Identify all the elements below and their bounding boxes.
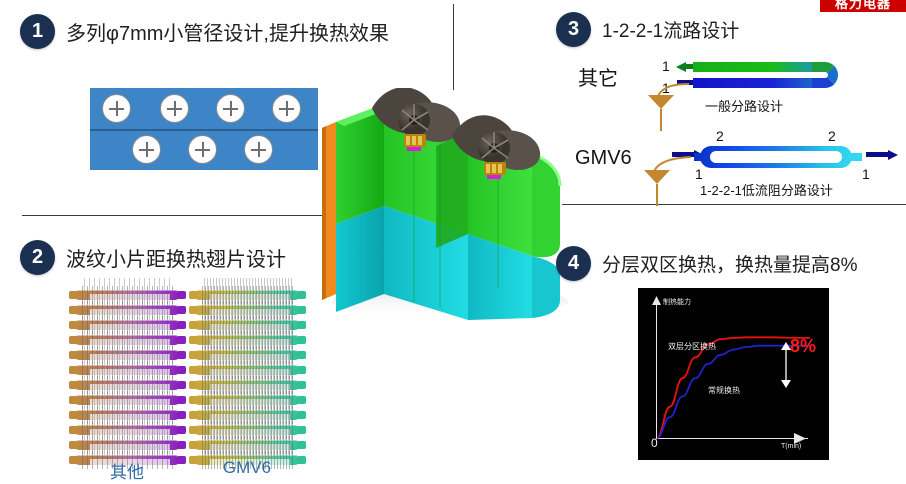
fin-end-cap-right <box>297 291 306 299</box>
section-header-4: 4 分层双区换热，换热量提高8% <box>556 246 857 281</box>
fin-end-cap-right <box>297 321 306 329</box>
tube-hole <box>188 135 217 164</box>
fin-end-cap-left <box>189 411 198 419</box>
plate-divider-line <box>90 129 318 131</box>
heating-capacity-chart: 制热能力 T(min) 0 双层分区换热 常规换热 8% <box>638 288 829 460</box>
fin-label-other: 其他 <box>72 458 182 483</box>
fin-end-cap-right <box>297 396 306 404</box>
flow-out-number-gmv6: 1 <box>862 166 870 182</box>
divider-horizontal-right <box>562 204 906 205</box>
fin-end-cap-left <box>69 426 78 434</box>
fin-end-cap-left <box>189 366 198 374</box>
chart-plot-area <box>638 288 829 460</box>
fin-end-cap-right <box>297 306 306 314</box>
section-title-3: 1-2-2-1流路设计 <box>602 16 739 43</box>
flow-tube-bend-other <box>812 62 838 88</box>
flow-loop-inner-gmv6 <box>710 151 842 163</box>
flow-tube-green-other <box>693 62 826 72</box>
fin-end-cap-left <box>69 441 78 449</box>
section-number-1: 1 <box>20 14 55 49</box>
chart-series-label-1: 常规换热 <box>708 385 740 396</box>
fin-end-cap-right <box>297 351 306 359</box>
fin-end-cap-left <box>189 306 198 314</box>
flow-caption-gmv6: 1-2-2-1低流阻分路设计 <box>700 180 833 199</box>
fin-end-cap-right <box>177 426 186 434</box>
flow-mid-right-number-gmv6: 2 <box>828 128 836 144</box>
flow-arrow-out-line-gmv6 <box>866 152 890 157</box>
fin-end-cap-right <box>297 411 306 419</box>
render-left-cyan-face <box>336 206 384 312</box>
tube-hole <box>102 94 131 123</box>
fin-end-cap-left <box>189 441 198 449</box>
tube-hole <box>216 94 245 123</box>
fin-end-cap-right <box>297 366 306 374</box>
chart-series-label-0: 双层分区换热 <box>668 341 716 352</box>
divider-horizontal-left <box>22 215 348 216</box>
section-title-2: 波纹小片距换热翅片设计 <box>66 243 286 272</box>
funnel-curve-gmv6 <box>651 155 695 177</box>
fin-end-cap-left <box>189 381 198 389</box>
fin-end-cap-right <box>177 321 186 329</box>
fin-end-cap-right <box>177 381 186 389</box>
fin-end-cap-right <box>297 441 306 449</box>
chart-delta-arrow <box>780 342 792 388</box>
section-header-3: 3 1-2-2-1流路设计 <box>556 12 739 47</box>
fin-end-cap-left <box>189 336 198 344</box>
fin-end-cap-left <box>69 411 78 419</box>
fin-end-cap-left <box>189 426 198 434</box>
flow-arrow-out-head-gmv6 <box>888 150 898 160</box>
tube-hole <box>132 135 161 164</box>
fin-label-gmv6: GMV6 <box>192 458 302 478</box>
section-header-2: 2 波纹小片距换热翅片设计 <box>20 240 286 275</box>
fin-end-cap-left <box>69 351 78 359</box>
fin-end-cap-right <box>177 351 186 359</box>
fin-end-cap-left <box>189 321 198 329</box>
fin-end-cap-left <box>189 396 198 404</box>
section-number-4: 4 <box>556 246 591 281</box>
fin-end-cap-left <box>69 291 78 299</box>
fin-end-cap-right <box>177 411 186 419</box>
flow-outlet-stub-gmv6 <box>848 153 862 161</box>
fin-end-cap-right <box>177 336 186 344</box>
flow-in-number-other: 1 <box>662 58 670 74</box>
fin-end-cap-left <box>189 351 198 359</box>
slide-root: 格力电器 1 多列φ7mm小管径设计,提升换热效果 2 波纹小片距换热翅片设计 … <box>0 0 906 484</box>
flow-arrow-out-head-other <box>676 62 686 72</box>
render-end-plate-edge <box>322 126 326 300</box>
tube-plate-diagram <box>90 88 318 170</box>
section-number-3: 3 <box>556 12 591 47</box>
tube-hole <box>272 94 301 123</box>
tube-hole <box>160 94 189 123</box>
heat-exchanger-3d-render <box>318 88 586 320</box>
fin-end-cap-left <box>69 321 78 329</box>
fin-end-cap-right <box>177 396 186 404</box>
flow-caption-other: 一般分路设计 <box>705 96 783 115</box>
fin-end-cap-right <box>297 336 306 344</box>
fin-end-cap-left <box>69 366 78 374</box>
section-title-4: 分层双区换热，换热量提高8% <box>602 250 857 277</box>
fin-stack-gmv6 <box>192 288 302 468</box>
fin-end-cap-right <box>177 306 186 314</box>
fin-end-cap-left <box>69 381 78 389</box>
fin-end-cap-right <box>177 366 186 374</box>
section-number-2: 2 <box>20 240 55 275</box>
tube-hole <box>244 135 273 164</box>
flow-mid-left-number-gmv6: 2 <box>716 128 724 144</box>
section-header-1: 1 多列φ7mm小管径设计,提升换热效果 <box>20 14 389 49</box>
section-title-1: 多列φ7mm小管径设计,提升换热效果 <box>66 17 389 46</box>
fin-end-cap-right <box>177 441 186 449</box>
flow-tube-blue-other <box>693 78 826 88</box>
brand-badge: 格力电器 <box>820 0 906 12</box>
funnel-curve-other <box>655 82 695 102</box>
chart-improvement-annotation: 8% <box>790 336 816 357</box>
fin-end-cap-right <box>177 291 186 299</box>
fin-end-cap-left <box>69 336 78 344</box>
funnel-stem-other <box>660 109 662 131</box>
fin-end-cap-left <box>69 306 78 314</box>
fin-end-cap-left <box>69 396 78 404</box>
divider-vertical <box>453 4 454 90</box>
fin-end-cap-right <box>297 381 306 389</box>
fin-stack-other <box>72 288 182 468</box>
fin-end-cap-right <box>297 426 306 434</box>
flow-row-label-other: 其它 <box>578 62 618 91</box>
fin-end-cap-left <box>189 291 198 299</box>
funnel-stem-gmv6 <box>656 184 658 206</box>
